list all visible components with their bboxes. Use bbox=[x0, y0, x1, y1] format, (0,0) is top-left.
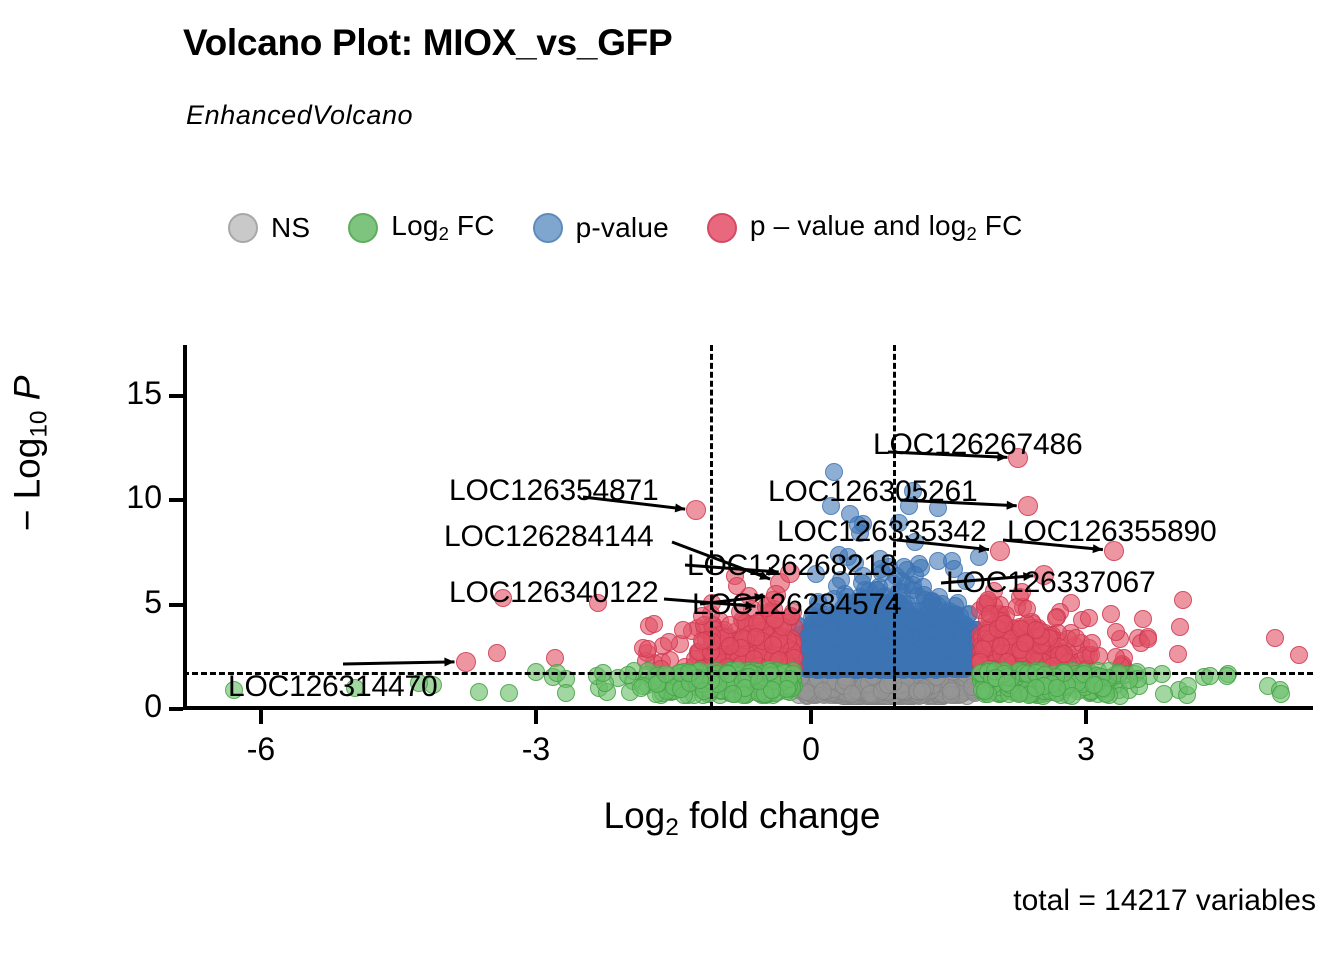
y-ticklabel-10: 10 bbox=[92, 481, 162, 513]
legend-item-pvalue[interactable]: p-value bbox=[533, 212, 669, 244]
legend-dot-pvalue-icon bbox=[533, 213, 563, 243]
x-tick-neg6 bbox=[259, 710, 263, 724]
x-tick-0 bbox=[809, 710, 813, 724]
legend-dot-log2fc-icon bbox=[348, 213, 378, 243]
legend-label-log2fc: Log2 FC bbox=[391, 210, 494, 245]
legend-label-ns: NS bbox=[271, 212, 310, 244]
y-tick-15 bbox=[169, 394, 183, 398]
x-ticklabel-neg3: -3 bbox=[491, 733, 581, 765]
volcano-plot-figure: Volcano Plot: MIOX_vs_GFP EnhancedVolcan… bbox=[0, 0, 1344, 960]
x-ticklabel-neg6: -6 bbox=[216, 733, 306, 765]
x-ticklabel-3: 3 bbox=[1041, 733, 1131, 765]
x-tick-3 bbox=[1084, 710, 1088, 724]
plot-subtitle: EnhancedVolcano bbox=[186, 100, 413, 131]
y-ticklabel-0: 0 bbox=[92, 690, 162, 722]
legend-item-log2fc[interactable]: Log2 FC bbox=[348, 210, 494, 245]
legend-item-both[interactable]: p – value and log2 FC bbox=[707, 210, 1023, 245]
plot-legend: NS Log2 FC p-value p – value and log2 FC bbox=[228, 198, 1061, 258]
legend-item-ns[interactable]: NS bbox=[228, 212, 310, 244]
x-ticklabel-0: 0 bbox=[766, 733, 856, 765]
scatter-point bbox=[843, 685, 861, 703]
scatter-point bbox=[913, 682, 931, 700]
legend-dot-both-icon bbox=[707, 213, 737, 243]
legend-label-both: p – value and log2 FC bbox=[750, 210, 1023, 245]
y-tick-5 bbox=[169, 603, 183, 607]
x-axis-title: Log2 fold change bbox=[0, 795, 1344, 842]
y-tick-10 bbox=[169, 498, 183, 502]
y-ticklabel-15: 15 bbox=[92, 377, 162, 409]
y-ticklabel-5: 5 bbox=[92, 586, 162, 618]
y-tick-0 bbox=[169, 707, 183, 711]
legend-dot-ns-icon bbox=[228, 213, 258, 243]
x-tick-neg3 bbox=[534, 710, 538, 724]
legend-label-pvalue: p-value bbox=[576, 212, 669, 244]
y-axis-title: − Log10 P bbox=[7, 253, 54, 653]
page-title: Volcano Plot: MIOX_vs_GFP bbox=[183, 22, 672, 64]
